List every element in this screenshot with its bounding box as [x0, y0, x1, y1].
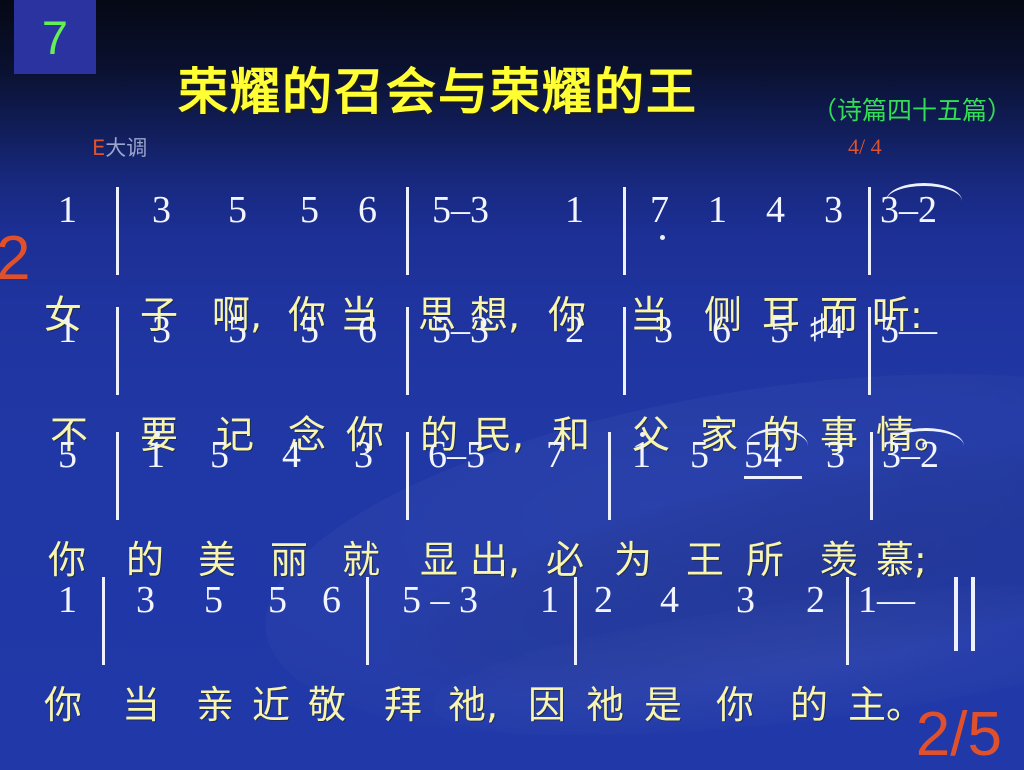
notation-row-3: 5 1 5 4 3 6–5 7 1 5 54 3 3–2 [0, 430, 1024, 484]
lyric-syllable: 为 [614, 541, 652, 579]
lyric-syllable: 的 [126, 541, 164, 579]
lyric-syllable: 美 [198, 541, 236, 579]
lyric-syllable: 出, [470, 541, 520, 579]
note: 3 [152, 311, 171, 349]
octave-dot-below-icon [660, 235, 665, 240]
barline [406, 187, 409, 275]
key-signature: E大调 [92, 138, 147, 159]
music-system-2: 1 3 5 5 6 5–3 2 3 6 5 ♯4 5–– 不 要 记 念 你 的… [0, 305, 1024, 417]
barline [868, 187, 871, 275]
note: 6 [712, 311, 731, 349]
slide-canvas: 7 荣耀的召会与荣耀的王 （诗篇四十五篇） 4/ 4 E大调 2 1 3 5 5… [0, 0, 1024, 770]
lyric-syllable: 显 [420, 541, 458, 579]
note: 3 [654, 311, 673, 349]
barline [116, 187, 119, 275]
lyric-syllable: 是 [644, 686, 682, 724]
note: 1 [58, 311, 77, 349]
lyric-row-4: 你 当 亲 近 敬 拜 祂, 因 祂 是 你 的 主。 [0, 684, 1024, 742]
note: 3 [354, 436, 373, 474]
barline [406, 307, 409, 395]
beam-underline-icon [744, 476, 802, 479]
lyric-syllable: 慕; [876, 541, 927, 579]
note: 7 [546, 436, 565, 474]
barline [116, 307, 119, 395]
note: 5 [210, 436, 229, 474]
note: 6 [358, 191, 377, 229]
note: 3 [152, 191, 171, 229]
lyric-syllable: 当 [122, 686, 160, 724]
barline [868, 307, 871, 395]
note: 1 [540, 581, 559, 619]
note: 1 [632, 436, 651, 474]
lyric-syllable: 敬 [308, 686, 346, 724]
note-beamed-pair: 54 [744, 436, 782, 474]
note: 6 [322, 581, 341, 619]
lyric-syllable: 就 [342, 541, 380, 579]
lyric-syllable: 你 [716, 686, 754, 724]
notation-row-2: 1 3 5 5 6 5–3 2 3 6 5 ♯4 5–– [0, 305, 1024, 359]
note: 3 [826, 436, 845, 474]
octave-dot-above-icon [640, 432, 645, 437]
note: 5 [300, 191, 319, 229]
note: 6 [358, 311, 377, 349]
note: 5 [204, 581, 223, 619]
page-counter: 2/5 [916, 704, 1002, 766]
hymn-number-text: 7 [42, 14, 68, 61]
lyric-syllable: 主。 [848, 686, 924, 724]
lyric-syllable: 拜 [384, 686, 422, 724]
note: 1 [58, 581, 77, 619]
barline [116, 432, 119, 520]
note: 2 [565, 311, 584, 349]
barline [102, 577, 105, 665]
note: 5 [690, 436, 709, 474]
barline [870, 432, 873, 520]
note: 5 [228, 311, 247, 349]
note: 3 [824, 191, 843, 229]
page-title: 荣耀的召会与荣耀的王 [178, 67, 698, 117]
note: 1 [58, 191, 77, 229]
note: 1 [565, 191, 584, 229]
note: 5 – 3 [402, 581, 478, 619]
note: 5–– [880, 311, 937, 349]
time-signature: 4/ 4 [848, 136, 882, 158]
music-system-1: 1 3 5 5 6 5–3 1 7 1 4 3 3–2 女 子 啊, 你 当 思 [0, 185, 1024, 297]
key-signature-letter: E [92, 136, 105, 160]
barline [623, 187, 626, 275]
note: 3 [136, 581, 155, 619]
note: 1–– [858, 581, 915, 619]
barline [406, 432, 409, 520]
lyric-syllable: 因 [528, 686, 566, 724]
lyric-syllable: 必 [546, 541, 584, 579]
lyric-syllable: 你 [44, 686, 82, 724]
lyric-syllable: 祂 [586, 686, 624, 724]
barline [623, 307, 626, 395]
lyric-syllable: 丽 [270, 541, 308, 579]
note: 5–3 [432, 191, 489, 229]
note: 5 [770, 311, 789, 349]
octave-dot-above-icon [155, 432, 160, 437]
note: 3–2 [882, 436, 939, 474]
note: 4 [282, 436, 301, 474]
lyric-syllable: 祂, [448, 686, 498, 724]
note: 5 [58, 436, 77, 474]
barline [574, 577, 577, 665]
note: 2 [806, 581, 825, 619]
notation-row-4: 1 3 5 5 6 5 – 3 1 2 4 3 2 1–– [0, 575, 1024, 629]
note: 5 [300, 311, 319, 349]
note: 3 [736, 581, 755, 619]
note: 4 [660, 581, 679, 619]
note: 2 [594, 581, 613, 619]
note: 4 [766, 191, 785, 229]
key-signature-suffix: 大调 [105, 136, 147, 160]
scripture-reference: （诗篇四十五篇） [812, 98, 1012, 123]
barline [366, 577, 369, 665]
music-system-4: 1 3 5 5 6 5 – 3 1 2 4 3 2 1–– 你 当 亲 近 敬 … [0, 575, 1024, 687]
barline [846, 577, 849, 665]
lyric-syllable: 亲 [196, 686, 234, 724]
double-barline-icon [954, 577, 975, 651]
hymn-number-badge: 7 [14, 0, 96, 74]
barline [608, 432, 611, 520]
note: 6–5 [428, 436, 485, 474]
note: 1 [146, 436, 165, 474]
music-system-3: 5 1 5 4 3 6–5 7 1 5 54 3 3–2 你 的 美 丽 [0, 430, 1024, 542]
lyric-syllable: 羡 [820, 541, 858, 579]
lyric-syllable: 所 [746, 541, 784, 579]
lyric-syllable: 近 [252, 686, 290, 724]
note: 5 [268, 581, 287, 619]
note-sharp: ♯4 [810, 311, 844, 345]
lyric-syllable: 的 [790, 686, 828, 724]
note: 7 [650, 191, 669, 229]
note: 3–2 [880, 191, 937, 229]
note: 5–3 [432, 311, 489, 349]
lyric-syllable: 王 [686, 541, 724, 579]
note: 5 [228, 191, 247, 229]
lyric-syllable: 你 [48, 541, 86, 579]
note: 1 [708, 191, 727, 229]
notation-row-1: 1 3 5 5 6 5–3 1 7 1 4 3 3–2 [0, 185, 1024, 239]
